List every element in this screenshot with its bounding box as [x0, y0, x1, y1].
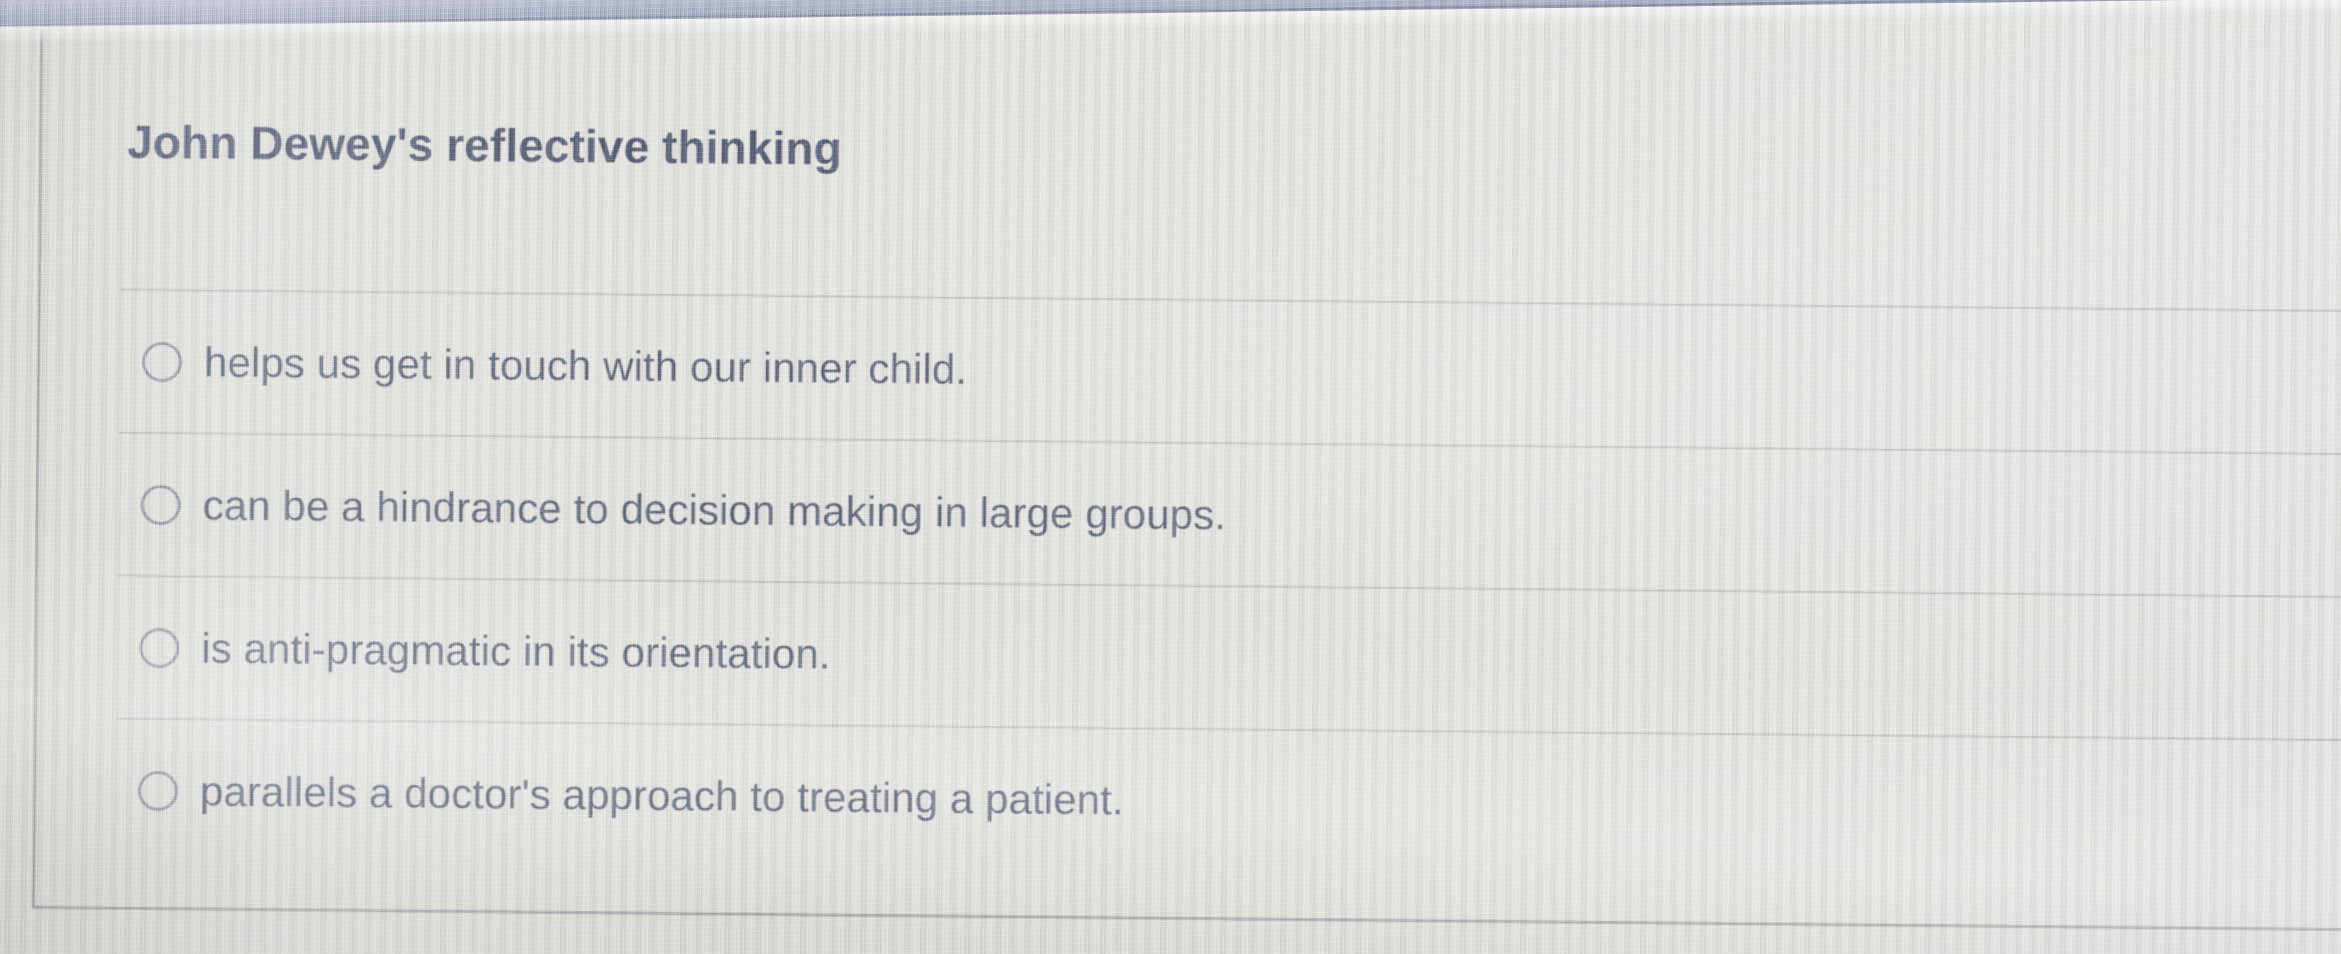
answer-option-a[interactable]: helps us get in touch with our inner chi…	[119, 289, 2341, 454]
answer-option-label: is anti-pragmatic in its orientation.	[201, 624, 831, 678]
answer-option-label: can be a hindrance to decision making in…	[202, 481, 1226, 539]
answer-option-d[interactable]: parallels a doctor's approach to treatin…	[115, 718, 2341, 883]
radio-unchecked-icon[interactable]	[142, 341, 182, 381]
quiz-card-container: John Dewey's reflective thinking helps u…	[0, 0, 2341, 954]
answer-option-b[interactable]: can be a hindrance to decision making in…	[118, 432, 2341, 597]
radio-unchecked-icon[interactable]	[139, 627, 179, 667]
radio-unchecked-icon[interactable]	[141, 484, 181, 524]
answer-option-label: parallels a doctor's approach to treatin…	[200, 767, 1124, 824]
answer-option-label: helps us get in touch with our inner chi…	[204, 338, 968, 393]
answer-option-c[interactable]: is anti-pragmatic in its orientation.	[117, 575, 2341, 740]
question-card: John Dewey's reflective thinking helps u…	[32, 26, 2341, 932]
radio-unchecked-icon[interactable]	[138, 770, 178, 810]
answer-options-list: helps us get in touch with our inner chi…	[115, 289, 2341, 883]
screen-photo: John Dewey's reflective thinking helps u…	[0, 0, 2341, 954]
question-title: John Dewey's reflective thinking	[127, 115, 842, 176]
